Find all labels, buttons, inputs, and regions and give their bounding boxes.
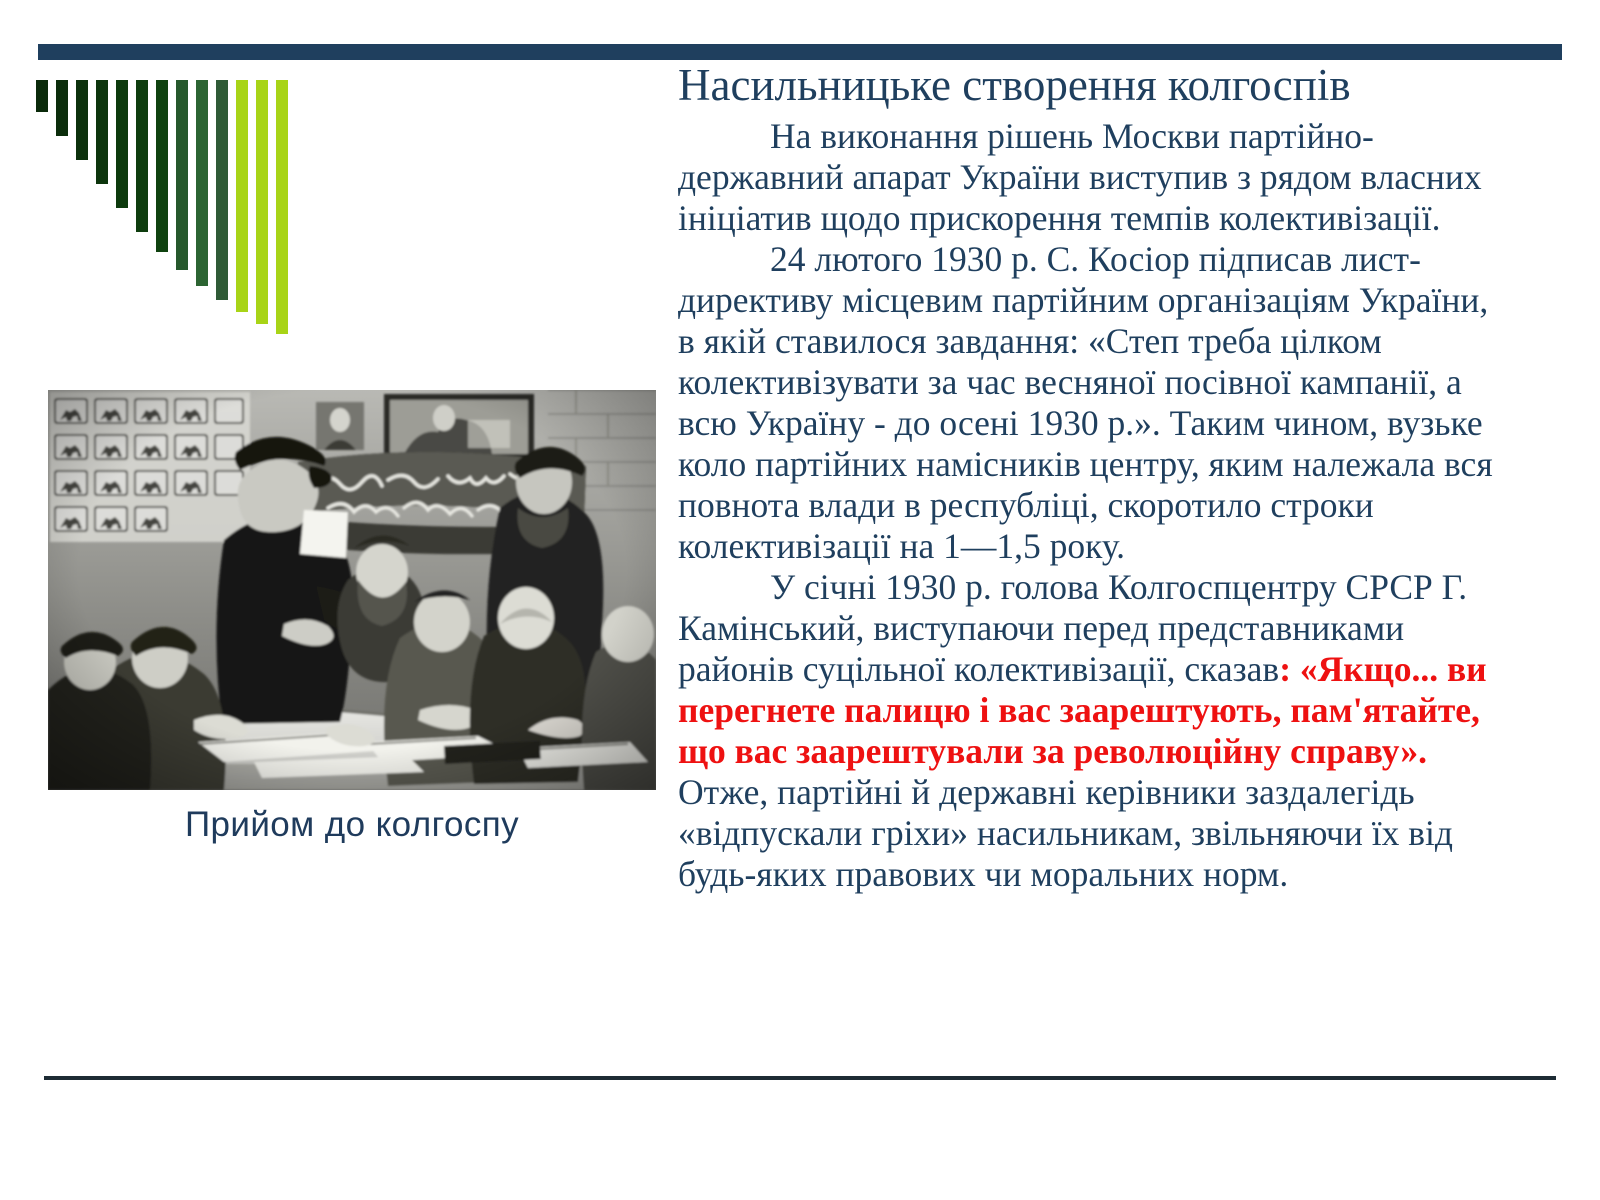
- bottom-accent-rule: [44, 1076, 1556, 1080]
- top-accent-rule: [38, 44, 1562, 60]
- decorative-bar-12: [256, 80, 268, 324]
- decorative-bar-3: [76, 80, 88, 160]
- decorative-bar-11: [236, 80, 248, 312]
- decorative-bar-6: [136, 80, 148, 232]
- historical-photo-figure: [48, 390, 656, 790]
- decorative-bar-2: [56, 80, 68, 136]
- decorative-bar-7: [156, 80, 168, 252]
- decorative-bar-8: [176, 80, 188, 270]
- decorative-bar-motif: [36, 80, 296, 320]
- slide-body-column: Насильницьке створення колгоспів На вико…: [678, 62, 1506, 895]
- decorative-bar-13: [276, 80, 288, 334]
- decorative-bar-4: [96, 80, 108, 184]
- photo-illustration: [48, 390, 656, 790]
- paragraph-1: На виконання рішень Москви партійно-держ…: [678, 116, 1506, 239]
- historical-photo: [48, 390, 656, 790]
- paragraph-2: 24 лютого 1930 р. С. Косіор підписав лис…: [678, 239, 1506, 567]
- paragraph-3-tail: Отже, партійні й державні керівники зазд…: [678, 772, 1453, 894]
- page-title: Насильницьке створення колгоспів: [678, 62, 1506, 110]
- decorative-bar-5: [116, 80, 128, 208]
- paragraph-3: У січні 1930 р. голова Колгоспцентру СРС…: [678, 567, 1506, 895]
- decorative-bar-1: [36, 80, 48, 112]
- decorative-bar-10: [216, 80, 228, 300]
- decorative-bar-9: [196, 80, 208, 286]
- photo-caption: Прийом до колгоспу: [48, 805, 656, 845]
